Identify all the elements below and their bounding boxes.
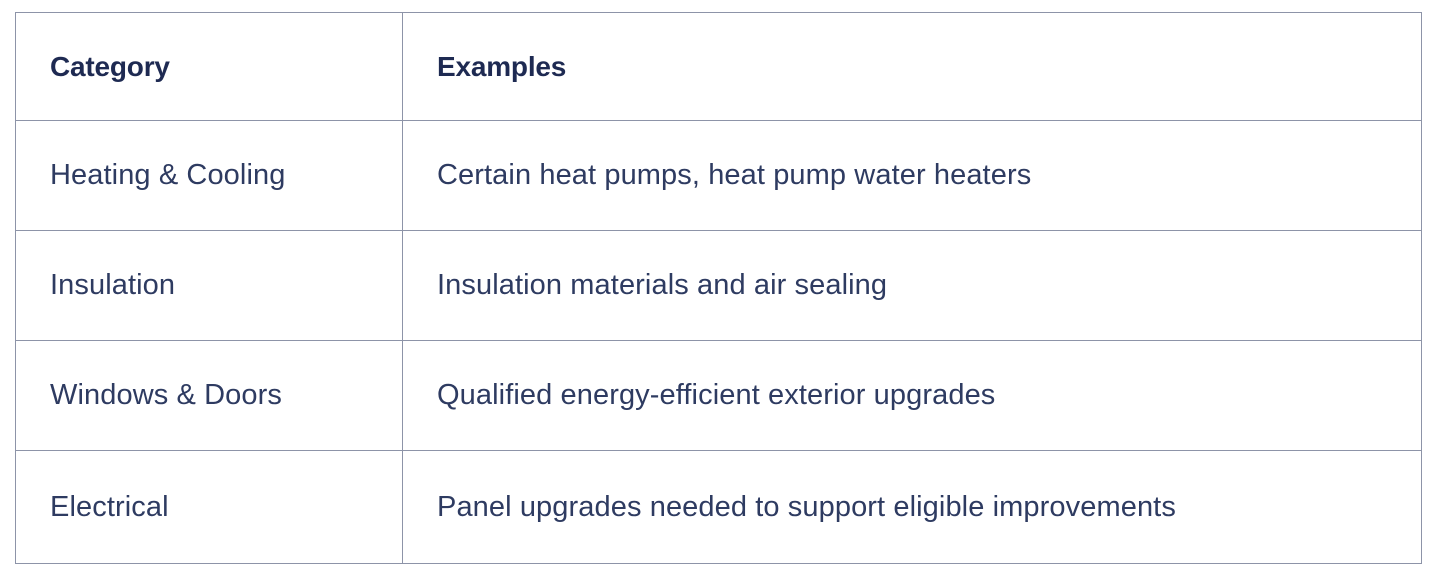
cell-category-text: Electrical [50,489,368,525]
cell-examples-text: Qualified energy-efficient exterior upgr… [437,377,1387,413]
cell-category-text: Insulation [50,267,368,303]
cell-category-text: Windows & Doors [50,377,368,413]
cell-category: Insulation [16,231,403,341]
table-row: Windows & Doors Qualified energy-efficie… [16,341,1422,451]
column-header-examples-label: Examples [437,50,1387,84]
table-row: Heating & Cooling Certain heat pumps, he… [16,121,1422,231]
column-header-category-label: Category [50,50,368,84]
cell-examples-text: Panel upgrades needed to support eligibl… [437,489,1387,525]
column-header-category: Category [16,13,403,121]
table-container: Category Examples Heating & Cooling Cert… [15,12,1421,563]
table-row: Electrical Panel upgrades needed to supp… [16,451,1422,564]
cell-examples-text: Insulation materials and air sealing [437,267,1387,303]
cell-examples-text: Certain heat pumps, heat pump water heat… [437,157,1387,193]
cell-category: Electrical [16,451,403,564]
column-header-examples: Examples [403,13,1422,121]
categories-table: Category Examples Heating & Cooling Cert… [15,12,1422,564]
table-header-row: Category Examples [16,13,1422,121]
cell-category: Windows & Doors [16,341,403,451]
table-header: Category Examples [16,13,1422,121]
cell-examples: Panel upgrades needed to support eligibl… [403,451,1422,564]
cell-examples: Certain heat pumps, heat pump water heat… [403,121,1422,231]
cell-category-text: Heating & Cooling [50,157,368,193]
cell-category: Heating & Cooling [16,121,403,231]
table-body: Heating & Cooling Certain heat pumps, he… [16,121,1422,564]
page-root: Category Examples Heating & Cooling Cert… [0,0,1440,577]
cell-examples: Qualified energy-efficient exterior upgr… [403,341,1422,451]
cell-examples: Insulation materials and air sealing [403,231,1422,341]
table-row: Insulation Insulation materials and air … [16,231,1422,341]
